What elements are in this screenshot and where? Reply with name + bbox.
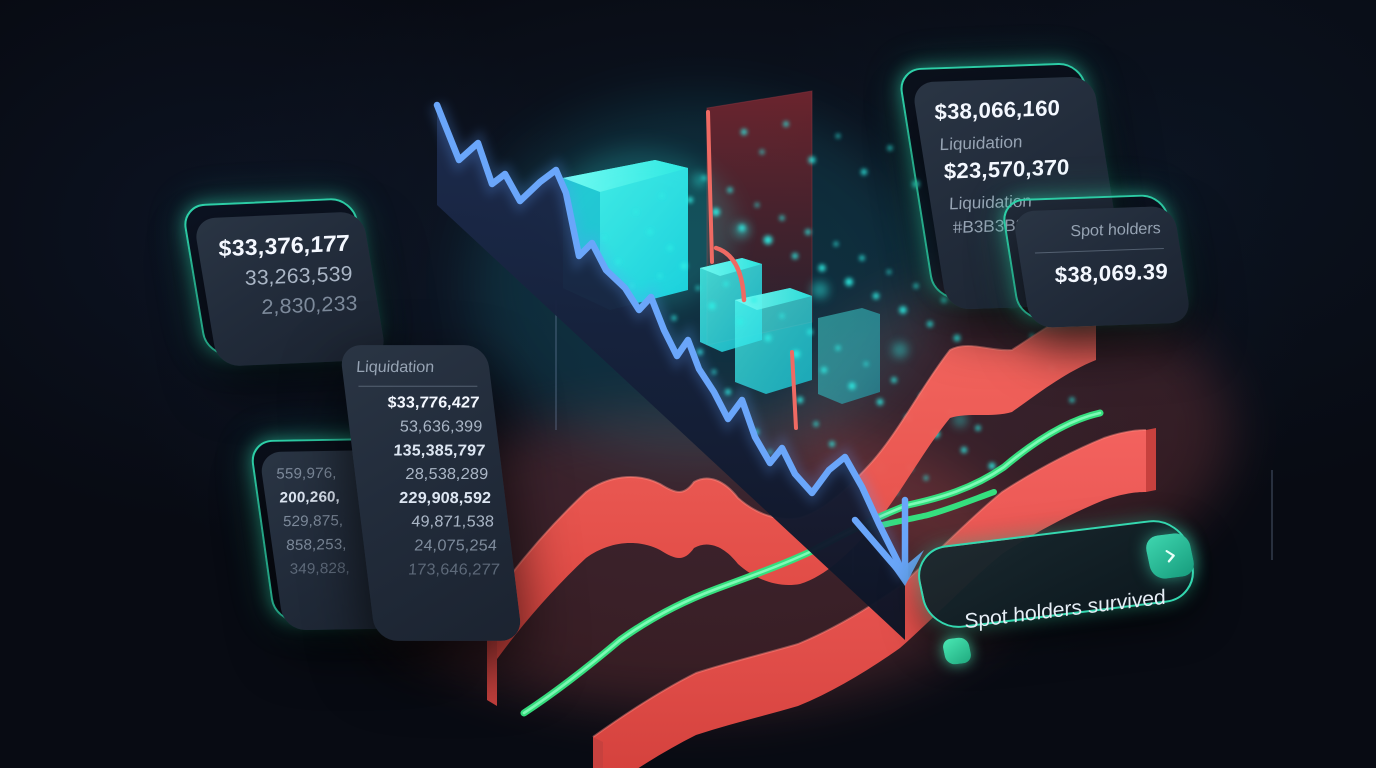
stat-value-secondary: 33,263,539 [222,263,355,292]
liq-row-2: 53,636,399 [362,419,483,437]
liq-row-5: 229,908,592 [371,490,492,508]
stat-value-primary: $33,376,177 [216,230,349,262]
spot-holders-value: $38,069.39 [1037,259,1170,289]
top-left-stats-card[interactable]: $33,376,177 33,263,539 2,830,233 [193,211,387,366]
liq-row-3: 135,385,797 [365,442,486,460]
liquidation-card-divider [358,386,477,387]
spot-holders-header: Spot holders [1031,220,1163,242]
spot-holders-divider [1035,248,1164,253]
spot-holders-card[interactable]: Spot holders $38,069.39 [1012,206,1192,328]
liq-row-1: $33,776,427 [359,395,480,413]
tr-label-1: Liquidation [938,130,1086,155]
tr-value-2: $23,570,370 [942,154,1091,185]
liquidation-card-header: Liquidation [355,359,476,377]
liq-row-6: 49,871,538 [374,514,495,532]
scene-root: $33,376,177 33,263,539 2,830,233 559,976… [0,0,1376,768]
liq-row-4: 28,538,289 [368,466,489,484]
isometric-chart [0,0,1376,768]
liq-row-8: 173,646,277 [380,561,501,579]
stat-value-tertiary: 2,830,233 [227,292,360,321]
tr-value-1: $38,066,160 [932,95,1081,126]
liq-row-7: 24,075,254 [377,538,498,556]
